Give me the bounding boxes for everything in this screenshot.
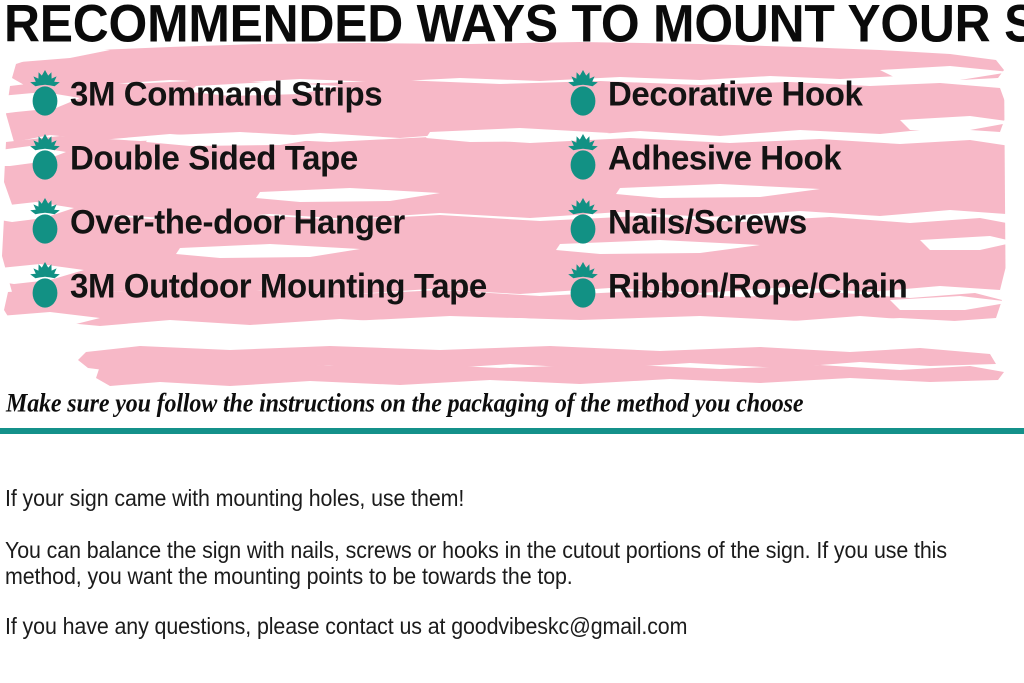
- list-item: Decorative Hook: [566, 62, 1006, 126]
- list-item: Ribbon/Rope/Chain: [566, 254, 1006, 318]
- list-item: Nails/Screws: [566, 190, 1006, 254]
- list-item-label: Ribbon/Rope/Chain: [608, 267, 907, 305]
- pineapple-icon: [28, 70, 62, 116]
- list-item-label: 3M Outdoor Mounting Tape: [70, 267, 487, 305]
- list-item: Adhesive Hook: [566, 126, 1006, 190]
- methods-left-column: 3M Command Strips Double Sided Tape Over…: [28, 62, 558, 318]
- pineapple-icon: [566, 134, 600, 180]
- list-item: Double Sided Tape: [28, 126, 558, 190]
- pineapple-icon: [28, 198, 62, 244]
- body-text: If your sign came with mounting holes, u…: [5, 462, 1011, 662]
- list-item: 3M Command Strips: [28, 62, 558, 126]
- pineapple-icon: [28, 262, 62, 308]
- methods-right-column: Decorative Hook Adhesive Hook Nails/Scre…: [566, 62, 1006, 318]
- list-item-label: 3M Command Strips: [70, 75, 382, 113]
- list-item: 3M Outdoor Mounting Tape: [28, 254, 558, 318]
- instructions-note: Make sure you follow the instructions on…: [6, 388, 978, 420]
- pineapple-icon: [28, 134, 62, 180]
- body-paragraph-2: You can balance the sign with nails, scr…: [5, 537, 1009, 589]
- pineapple-icon: [566, 198, 600, 244]
- list-item-label: Over-the-door Hanger: [70, 203, 405, 241]
- teal-divider: [0, 428, 1024, 434]
- pineapple-icon: [566, 70, 600, 116]
- body-paragraph-3: If you have any questions, please contac…: [5, 613, 1009, 639]
- body-paragraph-1: If your sign came with mounting holes, u…: [5, 485, 1009, 511]
- page-title: RECOMMENDED WAYS TO MOUNT YOUR SIGN: [4, 0, 1024, 50]
- list-item-label: Adhesive Hook: [608, 139, 841, 177]
- list-item-label: Double Sided Tape: [70, 139, 358, 177]
- mounting-methods-list: 3M Command Strips Double Sided Tape Over…: [0, 62, 1024, 322]
- pineapple-icon: [566, 262, 600, 308]
- list-item: Over-the-door Hanger: [28, 190, 558, 254]
- list-item-label: Nails/Screws: [608, 203, 807, 241]
- list-item-label: Decorative Hook: [608, 75, 862, 113]
